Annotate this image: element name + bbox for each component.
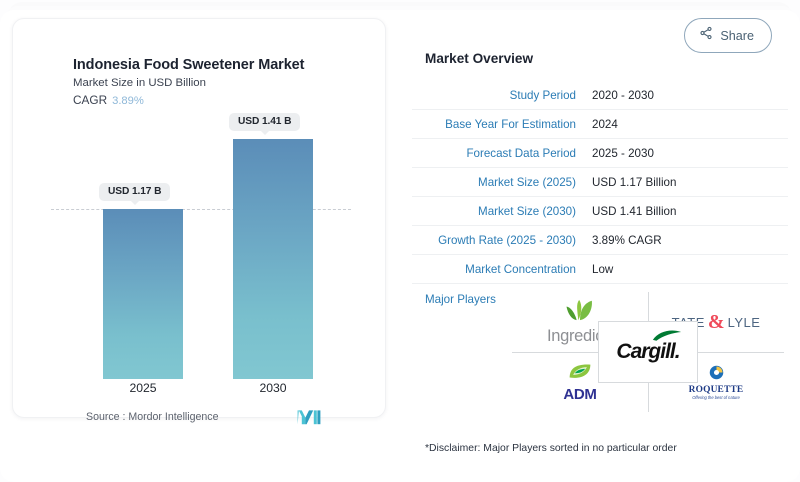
major-players-label: Major Players (425, 293, 496, 306)
row-value: 3.89% CAGR (592, 234, 788, 247)
table-row: Market Size (2030) USD 1.41 Billion (412, 197, 788, 226)
row-label: Study Period (412, 89, 592, 102)
chart-x-axis-labels: 2025 2030 (41, 381, 361, 401)
roquette-wordmark: ROQUETTE (689, 385, 744, 395)
major-players-logo-grid: Ingredion TATE & LYLE ADM (512, 292, 784, 412)
table-row: Base Year For Estimation 2024 (412, 110, 788, 139)
share-button[interactable]: Share (684, 18, 772, 53)
row-value: 2020 - 2030 (592, 89, 788, 102)
row-label: Base Year For Estimation (412, 118, 592, 131)
table-row: Study Period 2020 - 2030 (412, 81, 788, 110)
row-value: 2025 - 2030 (592, 147, 788, 160)
row-value: USD 1.17 Billion (592, 176, 788, 189)
major-players-disclaimer: *Disclaimer: Major Players sorted in no … (425, 443, 677, 454)
row-value: Low (592, 263, 788, 276)
chart-source-text: Source : Mordor Intelligence (86, 411, 219, 423)
cagr-label: CAGR (73, 93, 107, 107)
bar-chart-plot-area: USD 1.41 B USD 1.17 B (41, 139, 361, 379)
table-row: Market Concentration Low (412, 255, 788, 284)
bar-2030[interactable] (233, 139, 313, 379)
lyle-wordmark: LYLE (728, 315, 761, 330)
x-axis-tick-2030: 2030 (233, 381, 313, 395)
chart-card: Indonesia Food Sweetener Market Market S… (12, 18, 386, 418)
cagr-row: CAGR 3.89% (73, 93, 144, 107)
row-label: Forecast Data Period (412, 147, 592, 160)
roquette-tagline: Offering the best of nature (692, 395, 740, 400)
ingredion-logo (565, 299, 595, 326)
chart-title: Indonesia Food Sweetener Market (73, 57, 304, 73)
table-row: Growth Rate (2025 - 2030) 3.89% CAGR (412, 226, 788, 255)
row-label: Market Concentration (412, 263, 592, 276)
market-overview-table: Study Period 2020 - 2030 Base Year For E… (412, 81, 788, 284)
screenshot-root: Indonesia Food Sweetener Market Market S… (0, 0, 800, 482)
x-axis-tick-2025: 2025 (103, 381, 183, 395)
logo-cell-cargill: Cargill. (598, 321, 698, 383)
share-network-icon (699, 26, 713, 45)
ampersand-glyph: & (708, 311, 725, 334)
table-row: Market Size (2025) USD 1.17 Billion (412, 168, 788, 197)
adm-logo (567, 362, 593, 386)
roquette-logo (709, 365, 724, 385)
market-overview-title: Market Overview (425, 51, 533, 66)
bar-2025[interactable] (103, 209, 183, 379)
cagr-value: 3.89% (112, 95, 144, 107)
adm-wordmark: ADM (563, 386, 596, 403)
row-label: Market Size (2025) (412, 176, 592, 189)
bar-data-label-2030: USD 1.41 B (229, 113, 300, 131)
row-label: Growth Rate (2025 - 2030) (412, 234, 592, 247)
row-value: USD 1.41 Billion (592, 205, 788, 218)
chart-subtitle: Market Size in USD Billion (73, 77, 206, 89)
bar-data-label-2025: USD 1.17 B (99, 183, 170, 201)
cargill-swoosh-icon (652, 329, 682, 347)
table-row: Forecast Data Period 2025 - 2030 (412, 139, 788, 168)
mordor-intelligence-logo (297, 409, 321, 425)
row-value: 2024 (592, 118, 788, 131)
share-button-label: Share (720, 29, 754, 43)
row-label: Market Size (2030) (412, 205, 592, 218)
